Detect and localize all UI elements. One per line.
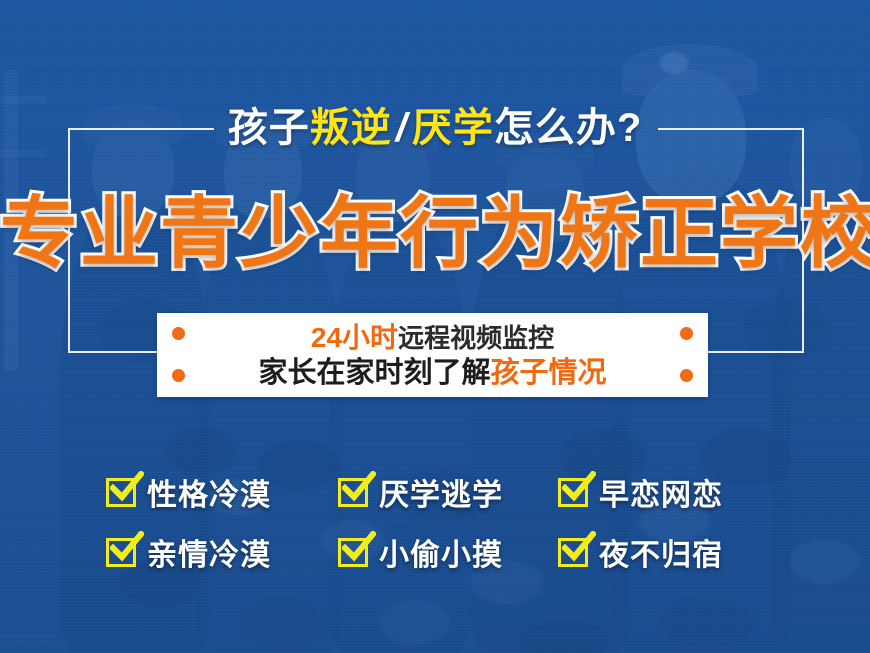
info-box-line-2: 家长在家时刻了解孩子情况 — [157, 356, 708, 390]
main-title: 专业青少年行为矫正学校 — [0, 178, 870, 288]
checklist-item-label: 亲情冷漠 — [147, 530, 271, 574]
checkbox-check-icon — [106, 538, 136, 567]
checkbox-check-icon — [338, 538, 368, 567]
checklist-item-qinqing-lengmo[interactable]: 亲情冷漠 — [106, 530, 338, 574]
info-box-line-2-highlight: 孩子情况 — [491, 357, 607, 389]
info-box-line-1-rest: 远程视频监控 — [398, 323, 554, 353]
checkbox-check-icon — [558, 538, 588, 567]
promo-banner: 孩子叛逆/厌学怎么办? 专业青少年行为矫正学校 24小时远程视频监控 家长在家时… — [0, 0, 870, 653]
checklist-item-xiaotou-xiaomo[interactable]: 小偷小摸 — [338, 530, 558, 574]
checklist-item-label: 夜不归宿 — [599, 530, 723, 574]
checkbox-check-icon — [338, 478, 368, 507]
headline-part-4: 怎么办? — [494, 106, 642, 150]
headline-part-2: 叛逆 — [310, 106, 392, 150]
headline: 孩子叛逆/厌学怎么办? — [0, 100, 870, 156]
checklist: 性格冷漠 厌学逃学 早恋网恋 亲情冷漠 — [106, 462, 766, 582]
info-box-line-1: 24小时远程视频监控 — [157, 321, 708, 355]
checklist-item-label: 厌学逃学 — [379, 470, 503, 514]
checklist-row-2: 亲情冷漠 小偷小摸 夜不归宿 — [106, 522, 766, 582]
checklist-row-1: 性格冷漠 厌学逃学 早恋网恋 — [106, 462, 766, 522]
info-box-line-1-highlight: 24小时 — [311, 322, 398, 353]
checklist-item-label: 小偷小摸 — [379, 530, 503, 574]
info-box-line-2-rest: 家长在家时刻了解 — [258, 357, 490, 389]
checklist-item-yebu-guisu[interactable]: 夜不归宿 — [558, 530, 758, 574]
main-title-text: 专业青少年行为矫正学校 — [0, 189, 870, 277]
checklist-item-label: 早恋网恋 — [599, 470, 723, 514]
checkbox-check-icon — [106, 478, 136, 507]
checklist-item-yanxue-taoxue[interactable]: 厌学逃学 — [338, 470, 558, 514]
headline-part-3: 厌学 — [412, 106, 494, 150]
headline-part-1: 孩子 — [228, 106, 310, 150]
checklist-item-zaolian-wanglian[interactable]: 早恋网恋 — [558, 470, 758, 514]
checkbox-check-icon — [558, 478, 588, 507]
headline-separator: / — [392, 106, 412, 150]
checklist-item-label: 性格冷漠 — [147, 470, 271, 514]
info-box: 24小时远程视频监控 家长在家时刻了解孩子情况 — [157, 313, 708, 397]
checklist-item-xingge-lengmo[interactable]: 性格冷漠 — [106, 470, 338, 514]
